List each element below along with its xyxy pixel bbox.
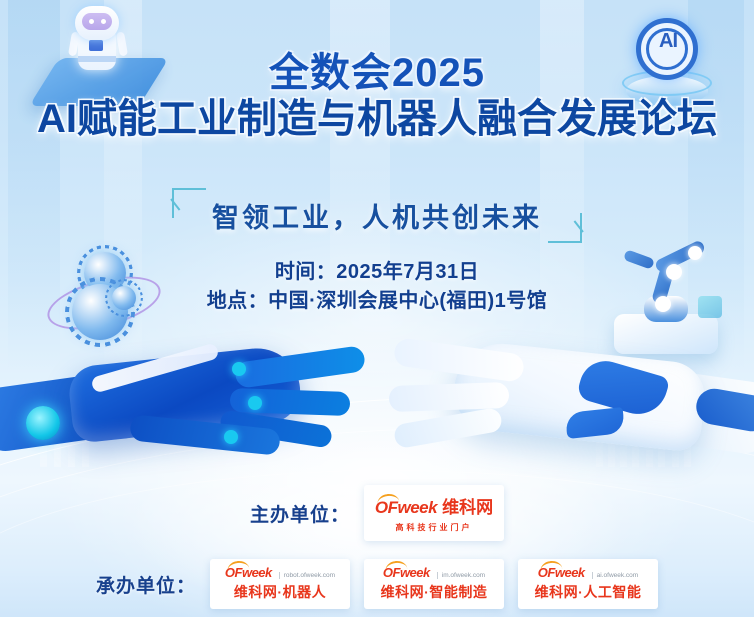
event-location: 地点：中国·深圳会展中心(福田)1号馆 xyxy=(0,287,754,316)
host-logo-tagline: 高科技行业门户 xyxy=(396,522,473,533)
ai-badge-label: AI xyxy=(620,30,716,53)
organizer-logo-url: ai.ofweek.com xyxy=(592,572,639,579)
organizer-logo-url: robot.ofweek.com xyxy=(279,572,335,579)
sponsors-block: 主办单位： OFweek 维科网 高科技行业门户 承办单位： OFweek ro… xyxy=(0,485,754,609)
organizer-label: 承办单位： xyxy=(96,571,196,598)
ofweek-wordmark: OFweek xyxy=(383,566,430,579)
ofweek-wordmark: OFweek xyxy=(538,566,585,579)
robot-hands-illustration xyxy=(0,318,754,498)
organizer-logo-url: im.ofweek.com xyxy=(437,572,485,579)
organizer-logo-card[interactable]: OFweek robot.ofweek.com 维科网·机器人 xyxy=(210,559,350,609)
blue-robot-hand xyxy=(0,318,380,498)
organizer-logo-card[interactable]: OFweek im.ofweek.com 维科网·智能制造 xyxy=(364,559,504,609)
organizer-logo-cn: 维科网·人工智能 xyxy=(535,582,642,602)
slogan-block: 智领工业，人机共创未来 xyxy=(0,192,754,239)
host-logo-card[interactable]: OFweek 维科网 高科技行业门户 xyxy=(364,485,504,541)
ofweek-wordmark: OFweek xyxy=(225,566,272,579)
title-line-2: AI赋能工业制造与机器人融合发展论坛 xyxy=(0,98,754,140)
event-poster: AI xyxy=(0,0,754,617)
organizer-row: 承办单位： OFweek robot.ofweek.com 维科网·机器人 OF… xyxy=(0,559,754,609)
host-logo-cn: 维科网 xyxy=(442,493,493,518)
bracket-top-left-decoration xyxy=(172,188,206,218)
poster-title-block: 全数会2025 AI赋能工业制造与机器人融合发展论坛 xyxy=(0,52,754,141)
host-label: 主办单位： xyxy=(250,500,350,527)
title-line-1: 全数会2025 xyxy=(0,52,754,94)
ofweek-wordmark: OFweek xyxy=(375,499,437,516)
event-date: 时间：2025年7月31日 xyxy=(0,258,754,287)
slogan-text: 智领工业，人机共创未来 xyxy=(212,203,542,233)
white-robot-hand xyxy=(374,318,754,498)
bracket-bottom-right-decoration xyxy=(548,213,582,243)
host-row: 主办单位： OFweek 维科网 高科技行业门户 xyxy=(0,485,754,541)
organizer-logo-cn: 维科网·智能制造 xyxy=(381,582,488,602)
organizer-logo-card[interactable]: OFweek ai.ofweek.com 维科网·人工智能 xyxy=(518,559,658,609)
event-details-block: 时间：2025年7月31日 地点：中国·深圳会展中心(福田)1号馆 xyxy=(0,258,754,316)
organizer-logo-cn: 维科网·机器人 xyxy=(234,582,326,602)
